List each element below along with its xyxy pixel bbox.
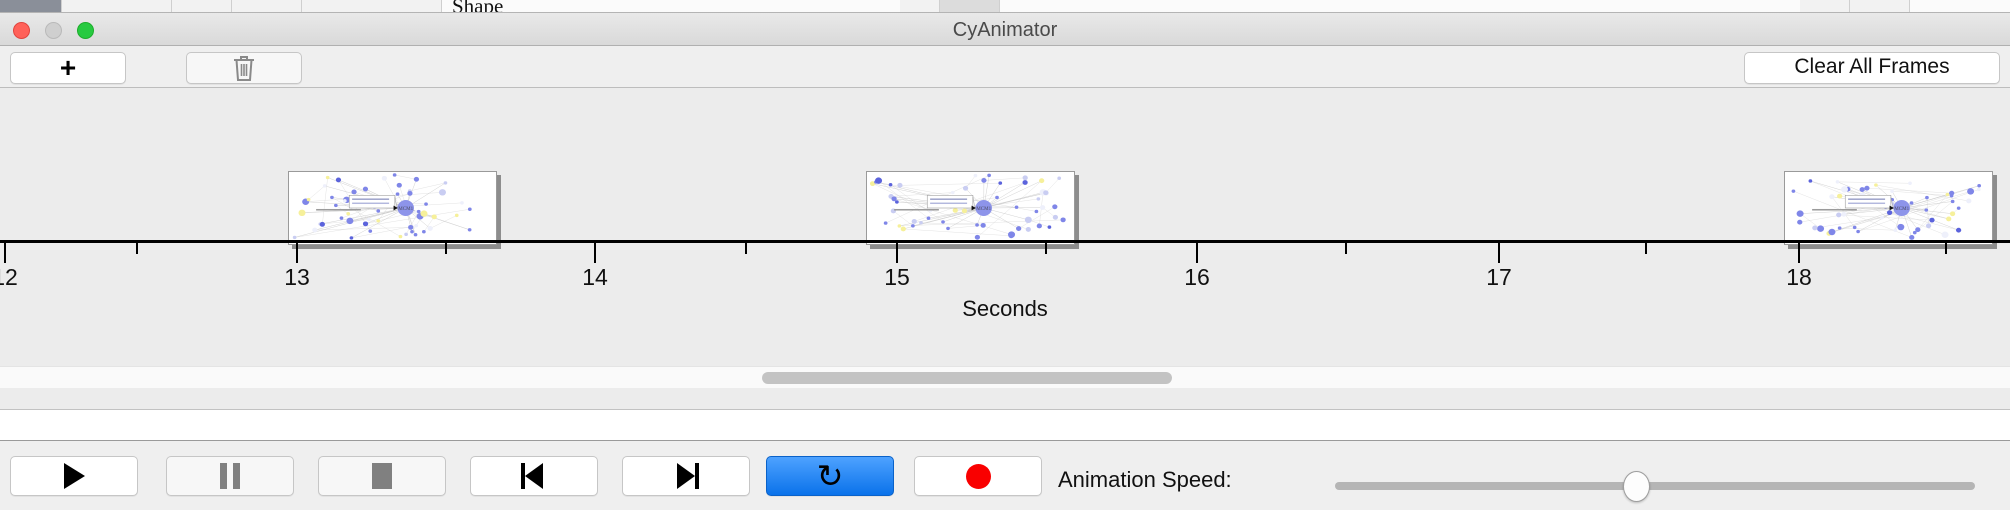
bg-chunk bbox=[62, 0, 172, 13]
skip-start-button[interactable] bbox=[470, 456, 598, 496]
title-bar: CyAnimator bbox=[0, 13, 2010, 46]
svg-text:MCM1: MCM1 bbox=[1894, 206, 1909, 212]
svg-text:MCM1: MCM1 bbox=[976, 206, 991, 212]
axis-tick-label: 15 bbox=[884, 264, 910, 291]
trash-icon bbox=[232, 54, 256, 82]
timeline-frame-thumbnail[interactable]: MCM1 bbox=[288, 171, 501, 249]
timeline-frame-thumbnail[interactable]: MCM1 bbox=[1784, 171, 1997, 249]
axis-tick-label: 16 bbox=[1184, 264, 1210, 291]
loop-icon: ↻ bbox=[817, 460, 844, 492]
clear-all-frames-button[interactable]: Clear All Frames bbox=[1744, 52, 2000, 84]
axis-tick-major bbox=[4, 243, 6, 263]
frame-network-image: MCM1 bbox=[866, 171, 1075, 245]
axis-tick-major bbox=[296, 243, 298, 263]
background-window-strip: Shape bbox=[0, 0, 2010, 13]
timeline-panel[interactable]: MCM1MCM1MCM1 12131415161718 Seconds bbox=[0, 88, 2010, 410]
axis-tick-minor bbox=[745, 243, 747, 254]
bg-chunk bbox=[302, 0, 442, 13]
axis-tick-major bbox=[1498, 243, 1500, 263]
clear-all-frames-label: Clear All Frames bbox=[1794, 55, 1949, 79]
bg-chunk bbox=[1800, 0, 1850, 13]
record-icon bbox=[966, 464, 991, 489]
skip-to-start-icon bbox=[521, 463, 547, 489]
stop-icon bbox=[372, 463, 392, 489]
axis-tick-major bbox=[1196, 243, 1198, 263]
bg-chunk bbox=[1850, 0, 1910, 13]
frame-network-image: MCM1 bbox=[1784, 171, 1993, 245]
bg-chunk bbox=[172, 0, 232, 13]
toolbar: + Clear All Frames bbox=[0, 46, 2010, 88]
scrollbar-thumb[interactable] bbox=[762, 372, 1172, 384]
pause-button[interactable] bbox=[166, 456, 294, 496]
pause-icon bbox=[220, 463, 240, 489]
axis-tick-minor bbox=[1645, 243, 1647, 254]
record-button[interactable] bbox=[914, 456, 1042, 496]
play-button[interactable] bbox=[10, 456, 138, 496]
timeline-axis bbox=[0, 240, 2010, 243]
axis-tick-minor bbox=[1945, 243, 1947, 254]
axis-tick-label: 18 bbox=[1786, 264, 1812, 291]
axis-tick-minor bbox=[445, 243, 447, 254]
axis-tick-label: 12 bbox=[0, 264, 18, 291]
skip-to-end-icon bbox=[673, 463, 699, 489]
stop-button[interactable] bbox=[318, 456, 446, 496]
axis-tick-minor bbox=[136, 243, 138, 254]
axis-title: Seconds bbox=[0, 296, 2010, 322]
plus-icon: + bbox=[60, 54, 76, 82]
skip-end-button[interactable] bbox=[622, 456, 750, 496]
animation-speed-slider[interactable] bbox=[1335, 482, 1975, 490]
window-title: CyAnimator bbox=[0, 19, 2010, 42]
svg-text:MCM1: MCM1 bbox=[398, 206, 413, 212]
axis-tick-minor bbox=[1345, 243, 1347, 254]
timeline-frame-thumbnail[interactable]: MCM1 bbox=[866, 171, 1079, 249]
playback-control-bar: ↻ Animation Speed: bbox=[0, 440, 2010, 510]
animation-speed-knob[interactable] bbox=[1623, 471, 1650, 502]
axis-tick-major bbox=[594, 243, 596, 263]
background-window-label: Shape bbox=[452, 0, 503, 13]
bg-chunk bbox=[940, 0, 1000, 13]
add-frame-button[interactable]: + bbox=[10, 52, 126, 84]
animation-speed-label: Animation Speed: bbox=[1058, 467, 1232, 493]
bg-chunk bbox=[900, 0, 940, 13]
cyanimator-window: Shape CyAnimator + Clear All Frames MCM1 bbox=[0, 0, 2010, 510]
play-icon bbox=[64, 463, 85, 489]
loop-button[interactable]: ↻ bbox=[766, 456, 894, 496]
axis-tick-major bbox=[1798, 243, 1800, 263]
axis-tick-label: 17 bbox=[1486, 264, 1512, 291]
axis-tick-major bbox=[896, 243, 898, 263]
timeline-content: MCM1MCM1MCM1 12131415161718 Seconds bbox=[0, 88, 2010, 410]
frame-network-image: MCM1 bbox=[288, 171, 497, 245]
horizontal-scrollbar[interactable] bbox=[0, 366, 2010, 388]
axis-tick-minor bbox=[1045, 243, 1047, 254]
axis-tick-label: 14 bbox=[582, 264, 608, 291]
bg-chunk bbox=[232, 0, 302, 13]
axis-tick-label: 13 bbox=[284, 264, 310, 291]
bg-chunk bbox=[0, 0, 62, 13]
delete-frame-button[interactable] bbox=[186, 52, 302, 84]
